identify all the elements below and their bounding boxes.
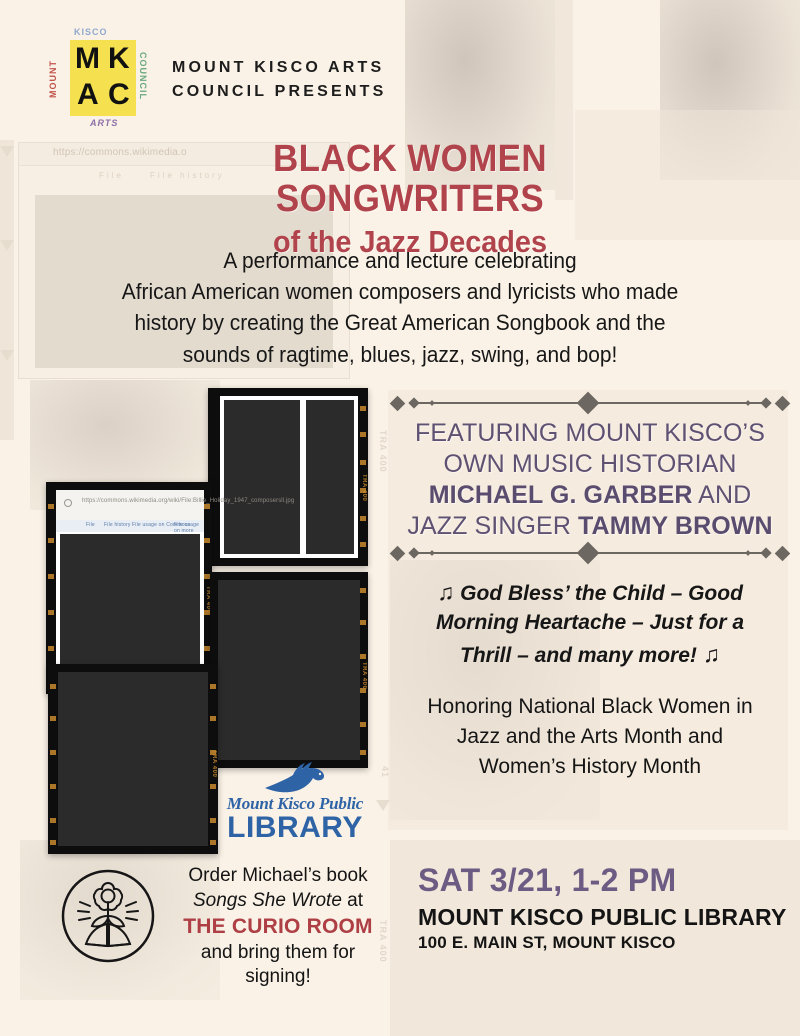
divider2-diamond-center [577, 542, 600, 565]
featuring-line-4: JAZZ SINGER TAMMY BROWN [398, 511, 782, 542]
background-arrow-mid [376, 800, 390, 811]
description-line-1: A performance and lecture celebrating [77, 245, 723, 276]
divider-diamond-left-mid [408, 397, 419, 408]
description-line-3: history by creating the Great American S… [77, 307, 723, 338]
event-address: 100 E. MAIN ST, MOUNT KISCO [418, 933, 798, 953]
flower-book-svg [58, 866, 158, 966]
film-label-pair: TRA 400 [361, 474, 367, 501]
background-film-label-b: 41 [380, 766, 390, 778]
background-arrow-left-c [0, 350, 14, 361]
featuring-line-1: FEATURING MOUNT KISCO’S [398, 418, 782, 449]
event-venue: MOUNT KISCO PUBLIC LIBRARY [418, 904, 798, 931]
divider2-diamond-left [390, 545, 406, 561]
event-datetime: SAT 3/21, 1-2 PM [418, 864, 798, 898]
divider2-diamond-right-mid [760, 547, 771, 558]
mkac-letter-a: A [77, 80, 99, 110]
mkac-letter-m: M [75, 44, 100, 74]
song-list: ♫ God Bless’ the Child – Good Morning He… [392, 576, 788, 670]
film-label-singer: TRA 400 [361, 662, 367, 689]
divider-diamond-right-mid [760, 397, 771, 408]
title-block: BLACK WOMEN SONGWRITERS of the Jazz Deca… [110, 140, 710, 260]
book-order-line-2: Songs She Wrote at [168, 889, 388, 914]
film-sprockets-duo-left [48, 664, 58, 854]
song-line-1: ♫ God Bless’ the Child – Good [392, 576, 788, 608]
photo-browser-url: https://commons.wikimedia.org/wiki/File:… [82, 498, 294, 504]
film-sprockets-holiday-left [46, 482, 56, 694]
speaker-name-brown: TAMMY BROWN [578, 512, 773, 540]
background-strip-left [0, 140, 14, 440]
photo-mat-holiday: https://commons.wikimedia.org/wiki/File:… [56, 490, 204, 686]
divider-top [392, 396, 788, 410]
description-line-2: African American women composers and lyr… [77, 276, 723, 307]
book-order-line-1: Order Michael’s book [168, 864, 388, 889]
book-order-at: at [342, 890, 363, 911]
library-logo: Mount Kisco Public LIBRARY [222, 762, 368, 852]
presents-text: MOUNT KISCO ARTS COUNCIL PRESENTS [172, 56, 412, 104]
photo-composer-left [224, 400, 300, 554]
photo-frame-jazz-singer: TRA 400 [210, 572, 368, 768]
book-order-block: Order Michael’s book Songs She Wrote at … [58, 862, 388, 974]
event-details: SAT 3/21, 1-2 PM MOUNT KISCO PUBLIC LIBR… [418, 864, 798, 953]
divider2-diamond-left-mid [408, 547, 419, 558]
mkac-logo-letters: M K A C [70, 40, 136, 116]
film-label-duo: TRA 400 [211, 750, 217, 777]
page-title: BLACK WOMEN SONGWRITERS [134, 140, 686, 220]
song-line-2: Morning Heartache – Just for a [392, 608, 788, 637]
book-order-text: Order Michael’s book Songs She Wrote at … [168, 864, 388, 990]
photo-browser-tabs: File File history File usage on Commons … [56, 520, 204, 532]
divider-diamond-right [775, 395, 791, 411]
photo-browser-shield-icon [64, 499, 72, 507]
honoring-line-2: Jazz and the Arts Month and [392, 722, 788, 752]
presents-line-1: MOUNT KISCO ARTS [172, 56, 412, 80]
photo-browser-tab-3: File usage on more [174, 522, 204, 534]
photo-composer-right [306, 400, 354, 554]
mkac-letter-k: K [108, 44, 130, 74]
flower-book-icon [58, 866, 158, 966]
poster: https://commons.wikimedia.o File File hi… [0, 0, 800, 1036]
photo-frame-composer-pair: TRA 400 [208, 388, 368, 566]
book-order-line-3: and bring them for signing! [168, 941, 388, 990]
library-logo-line-2: LIBRARY [222, 814, 368, 843]
photo-frame-billie-holiday: https://commons.wikimedia.org/wiki/File:… [46, 482, 212, 694]
music-note-icon-left: ♫ [437, 579, 454, 605]
honoring-line-1: Honoring National Black Women in [392, 692, 788, 722]
presents-line-2: COUNCIL PRESENTS [172, 80, 412, 104]
featuring-block: FEATURING MOUNT KISCO’S OWN MUSIC HISTOR… [392, 410, 788, 546]
song-text-1: God Bless’ the Child – Good [460, 582, 743, 605]
honoring-block: Honoring National Black Women in Jazz an… [392, 692, 788, 781]
speaker-name-garber: MICHAEL G. GARBER [429, 481, 693, 509]
featuring-line-2: OWN MUSIC HISTORIAN [398, 449, 782, 480]
mkac-word-mount: MOUNT [48, 60, 58, 98]
music-note-icon-right: ♫ [703, 641, 720, 667]
divider-diamond-left [390, 395, 406, 411]
mkac-word-arts: ARTS [90, 118, 118, 128]
photo-billie-holiday [60, 534, 200, 682]
photo-browser-tab-1: File history [104, 522, 131, 528]
description-text: A performance and lecture celebrating Af… [77, 245, 723, 370]
mkac-letter-c: C [108, 80, 130, 110]
photo-browser-tab-0: File [86, 522, 95, 528]
bird-icon [259, 762, 331, 796]
photo-mat-pair [220, 396, 358, 558]
background-film-label-a: TRA 400 [378, 430, 388, 473]
divider2-diamond-right [775, 545, 791, 561]
featuring-jazz-singer-label: JAZZ SINGER [407, 512, 578, 540]
header: M K A C MOUNT KISCO COUNCIL ARTS MOUNT K… [30, 22, 410, 134]
shop-name: THE CURIO ROOM [168, 913, 388, 940]
background-arrow-left-b [0, 240, 14, 251]
description-line-4: sounds of ragtime, blues, jazz, swing, a… [77, 339, 723, 370]
mkac-word-council: COUNCIL [138, 52, 148, 100]
song-line-3: Thrill – and many more! ♫ [392, 638, 788, 670]
mkac-logo: M K A C MOUNT KISCO COUNCIL ARTS [44, 26, 152, 132]
honoring-line-3: Women’s History Month [392, 752, 788, 782]
mkac-word-kisco: KISCO [74, 27, 108, 37]
photo-jazz-singer [218, 580, 360, 760]
background-arrow-left-a [0, 146, 14, 157]
featuring-and: AND [693, 481, 752, 509]
divider-bottom [392, 546, 788, 560]
photo-duo-at-piano [58, 672, 208, 846]
song-text-3: Thrill – and many more! [460, 644, 697, 667]
featuring-line-3: MICHAEL G. GARBER AND [398, 480, 782, 511]
book-title: Songs She Wrote [193, 890, 342, 911]
photo-frame-duo-at-piano: TRA 400 [48, 664, 218, 854]
photo-browser-chrome: https://commons.wikimedia.org/wiki/File:… [56, 490, 204, 520]
right-column: FEATURING MOUNT KISCO’S OWN MUSIC HISTOR… [392, 396, 788, 782]
